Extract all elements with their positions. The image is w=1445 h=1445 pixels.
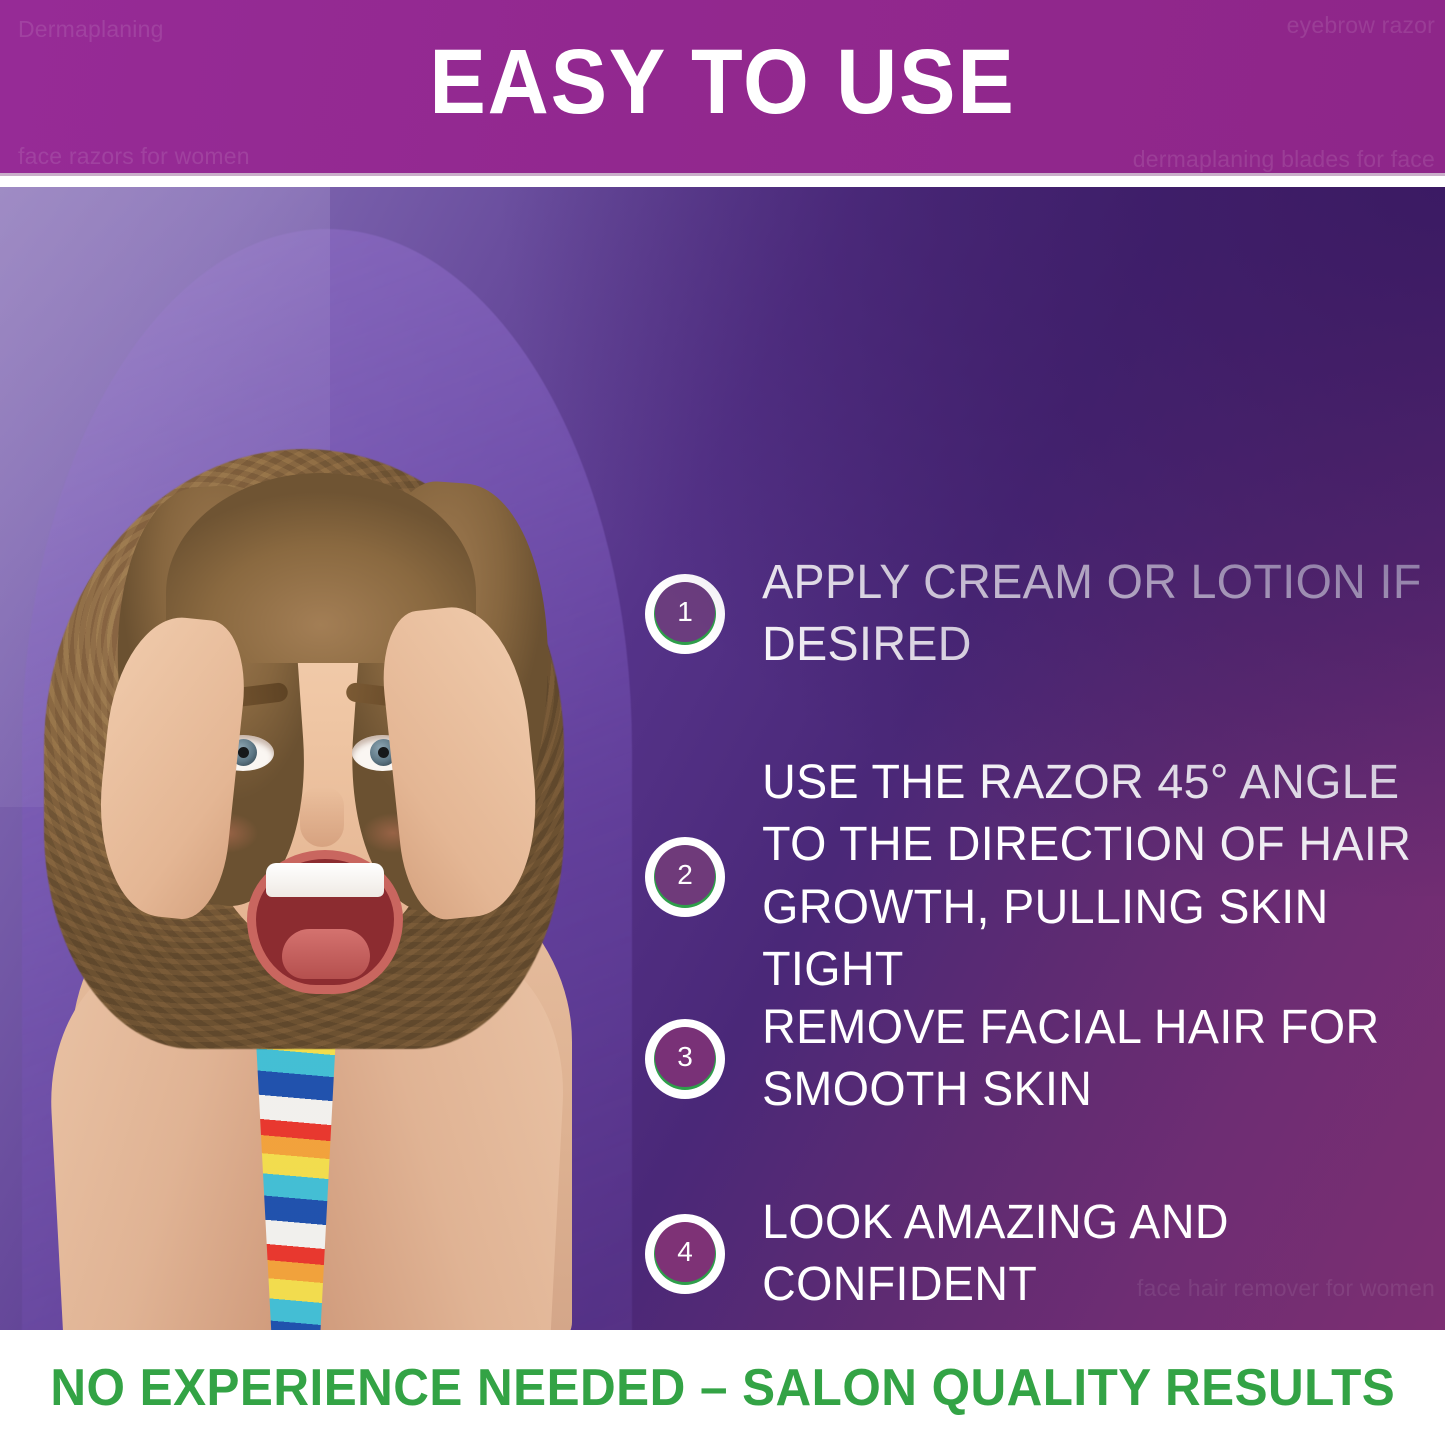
badge-number-2: 2	[655, 845, 715, 905]
model-teeth	[266, 863, 384, 897]
poster: EASY TO USE Dermaplaning eyebrow razor f…	[0, 0, 1445, 1445]
badge-number-3: 3	[655, 1027, 715, 1087]
step-badge-3-icon: 3	[645, 1019, 733, 1099]
step-item-3: 3 REMOVE FACIAL HAIR FOR SMOOTH SKIN	[645, 997, 1445, 1122]
page-title: EASY TO USE	[58, 36, 1387, 128]
step-text-2: USE THE RAZOR 45° ANGLE TO THE DIRECTION…	[733, 752, 1428, 1002]
badge-number-4: 4	[655, 1222, 715, 1282]
model-pupil-right	[378, 747, 389, 758]
step-item-2: 2 USE THE RAZOR 45° ANGLE TO THE DIRECTI…	[645, 752, 1445, 1002]
badge-number-1: 1	[655, 582, 715, 642]
step-badge-4-icon: 4	[645, 1214, 733, 1294]
model-nose	[300, 787, 344, 847]
watermark-bottom-left: face razors for women	[18, 143, 250, 170]
step-item-1: 1 APPLY CREAM OR LOTION IF DESIRED	[645, 552, 1445, 677]
header-banner: EASY TO USE Dermaplaning eyebrow razor f…	[0, 0, 1445, 173]
step-text-3: REMOVE FACIAL HAIR FOR SMOOTH SKIN	[733, 997, 1424, 1122]
steps-list: 1 APPLY CREAM OR LOTION IF DESIRED 2 USE…	[645, 377, 1445, 1330]
header-divider	[0, 173, 1445, 176]
model-pupil-left	[238, 747, 249, 758]
step-badge-2-icon: 2	[645, 837, 733, 917]
footer-tagline: NO EXPERIENCE NEEDED – SALON QUALITY RES…	[50, 1358, 1395, 1418]
watermark-bottom-right: dermaplaning blades for face	[1133, 146, 1435, 173]
step-badge-1-icon: 1	[645, 574, 733, 654]
watermark-top-right: eyebrow razor	[1287, 12, 1435, 39]
step-text-4: LOOK AMAZING AND CONFIDENT	[733, 1192, 1424, 1317]
footer-bar: NO EXPERIENCE NEEDED – SALON QUALITY RES…	[0, 1330, 1445, 1445]
step-item-4: 4 LOOK AMAZING AND CONFIDENT	[645, 1192, 1445, 1317]
model-tongue	[282, 929, 370, 979]
model-photo	[0, 187, 660, 1330]
step-text-1: APPLY CREAM OR LOTION IF DESIRED	[733, 552, 1424, 677]
main-visual-area: 1 APPLY CREAM OR LOTION IF DESIRED 2 USE…	[0, 187, 1445, 1330]
